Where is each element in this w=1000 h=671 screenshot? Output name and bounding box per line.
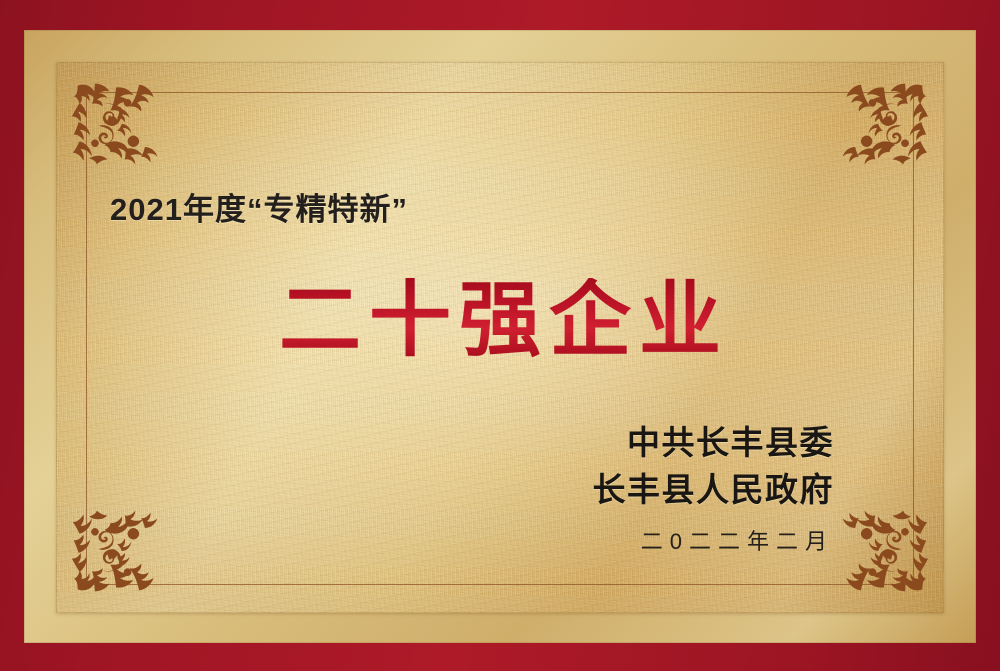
- award-main-title: 二十强企业: [56, 278, 944, 364]
- issue-date: 二0二二年二月: [593, 524, 835, 556]
- issuer-line-1: 中共长丰县委: [593, 420, 835, 467]
- issuer-line-2: 长丰县人民政府: [593, 467, 835, 514]
- issuer-signature-block: 中共长丰县委 长丰县人民政府 二0二二年二月: [593, 420, 835, 556]
- plaque-content: 2021年度“专精特新” 二十强企业 中共长丰县委 长丰县人民政府 二0二二年二…: [56, 62, 944, 613]
- certificate-panel: 2021年度“专精特新” 二十强企业 中共长丰县委 长丰县人民政府 二0二二年二…: [56, 62, 944, 613]
- award-year-label: 2021年度“专精特新”: [110, 184, 408, 229]
- award-plaque: 2021年度“专精特新” 二十强企业 中共长丰县委 长丰县人民政府 二0二二年二…: [0, 0, 1000, 671]
